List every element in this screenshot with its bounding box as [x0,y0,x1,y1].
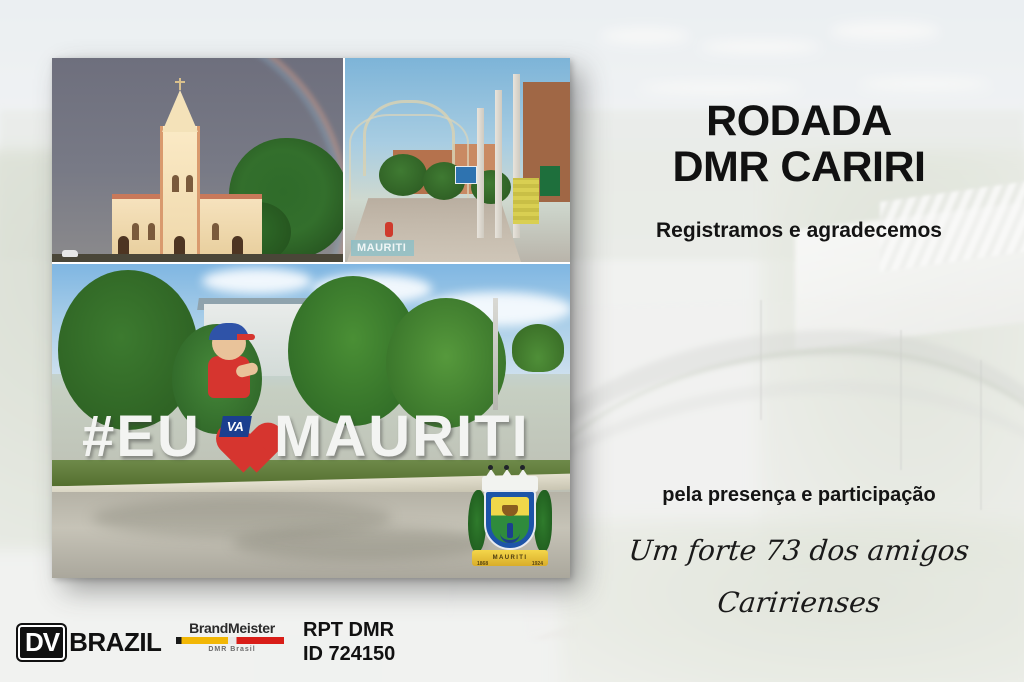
photo-street-view: MAURITI [345,58,570,262]
brandmeister-logo: BrandMeister DMR Brasil [176,620,288,653]
flag-post [493,298,498,410]
church-spire [162,90,198,132]
coat-of-arms-banner: MAURITI 1868 1924 [472,550,548,566]
dv-mark: DV [18,625,65,660]
monument-letter: A [324,410,365,464]
photo-church-rainbow [52,58,343,262]
page-title: RODADA DMR CARIRI [594,98,1004,190]
church-door [174,236,185,256]
monument-letter: I [456,410,471,464]
road-shadow [232,526,492,560]
photo-watermark: MAURITI [351,240,414,256]
crown-charge [502,505,518,516]
monument-letter: E [116,410,154,464]
church-door [232,236,243,256]
banner-year-right: 1924 [532,561,543,567]
brandmeister-wordmark: BrandMeister [176,620,288,636]
monument-letter: M [274,410,321,464]
parked-car [62,250,78,257]
heart-icon: VA [204,398,266,456]
thanks-text: pela presença e participação [594,484,1004,507]
church-window [186,175,193,192]
cross-icon [179,78,181,90]
banner-text: MAURITI [493,555,528,561]
script-line-2: Caririenses [592,586,1005,619]
german-flag-bar [176,637,284,644]
street-flag [486,66,527,83]
script-line-1: Um forte 73 dos amigos [592,534,1005,567]
church-window [172,175,179,192]
title-line-1: RODADA [594,98,1004,144]
repeater-label: RPT DMR [303,618,395,642]
monument-letter: U [368,410,409,464]
monument-letter: T [474,410,508,464]
church-window [132,223,139,240]
anchor-charge [507,523,513,538]
church-window [212,223,219,240]
monument-letters-right: M A U R I T I [274,402,527,464]
street-sign [455,166,477,184]
church-door [118,236,129,256]
repeater-id: ID 724150 [303,642,395,666]
palm-tree [512,324,564,372]
church-window [148,223,155,240]
photo-eu-mauriti-monument: # E U VA M A U R I T I [52,264,570,578]
street-flag [468,112,509,129]
monument-letters-left: # E U [82,402,198,464]
hedge [513,178,539,224]
photo-collage: MAURITI # E U VA [52,58,570,578]
repeater-info: RPT DMR ID 724150 [303,618,395,666]
shield [484,490,536,550]
coat-of-arms: MAURITI 1868 1924 [468,476,552,572]
road-sign [540,166,560,196]
monument-letter: I [512,410,527,464]
lamp-post [495,90,502,238]
subtitle-text: Registramos e agradecemos [594,219,1004,243]
monument-letter: R [412,410,453,464]
banner-year-left: 1868 [477,561,488,567]
cyclist [385,222,393,237]
title-line-2: DMR CARIRI [594,144,1004,190]
mascot-cap [209,323,249,340]
heart-logo-badge: VA [219,416,252,437]
laurel-branch-right [534,490,552,552]
shield-field [491,497,529,543]
ground [52,254,343,262]
monument-letter: # [82,410,113,464]
dv-brazil-logo: DV BRAZIL [18,625,161,660]
brandmeister-subtitle: DMR Brasil [176,646,288,653]
monument-letter: U [157,410,198,464]
tree [379,154,427,196]
cloud [202,268,312,294]
dv-wordmark: BRAZIL [69,627,161,658]
